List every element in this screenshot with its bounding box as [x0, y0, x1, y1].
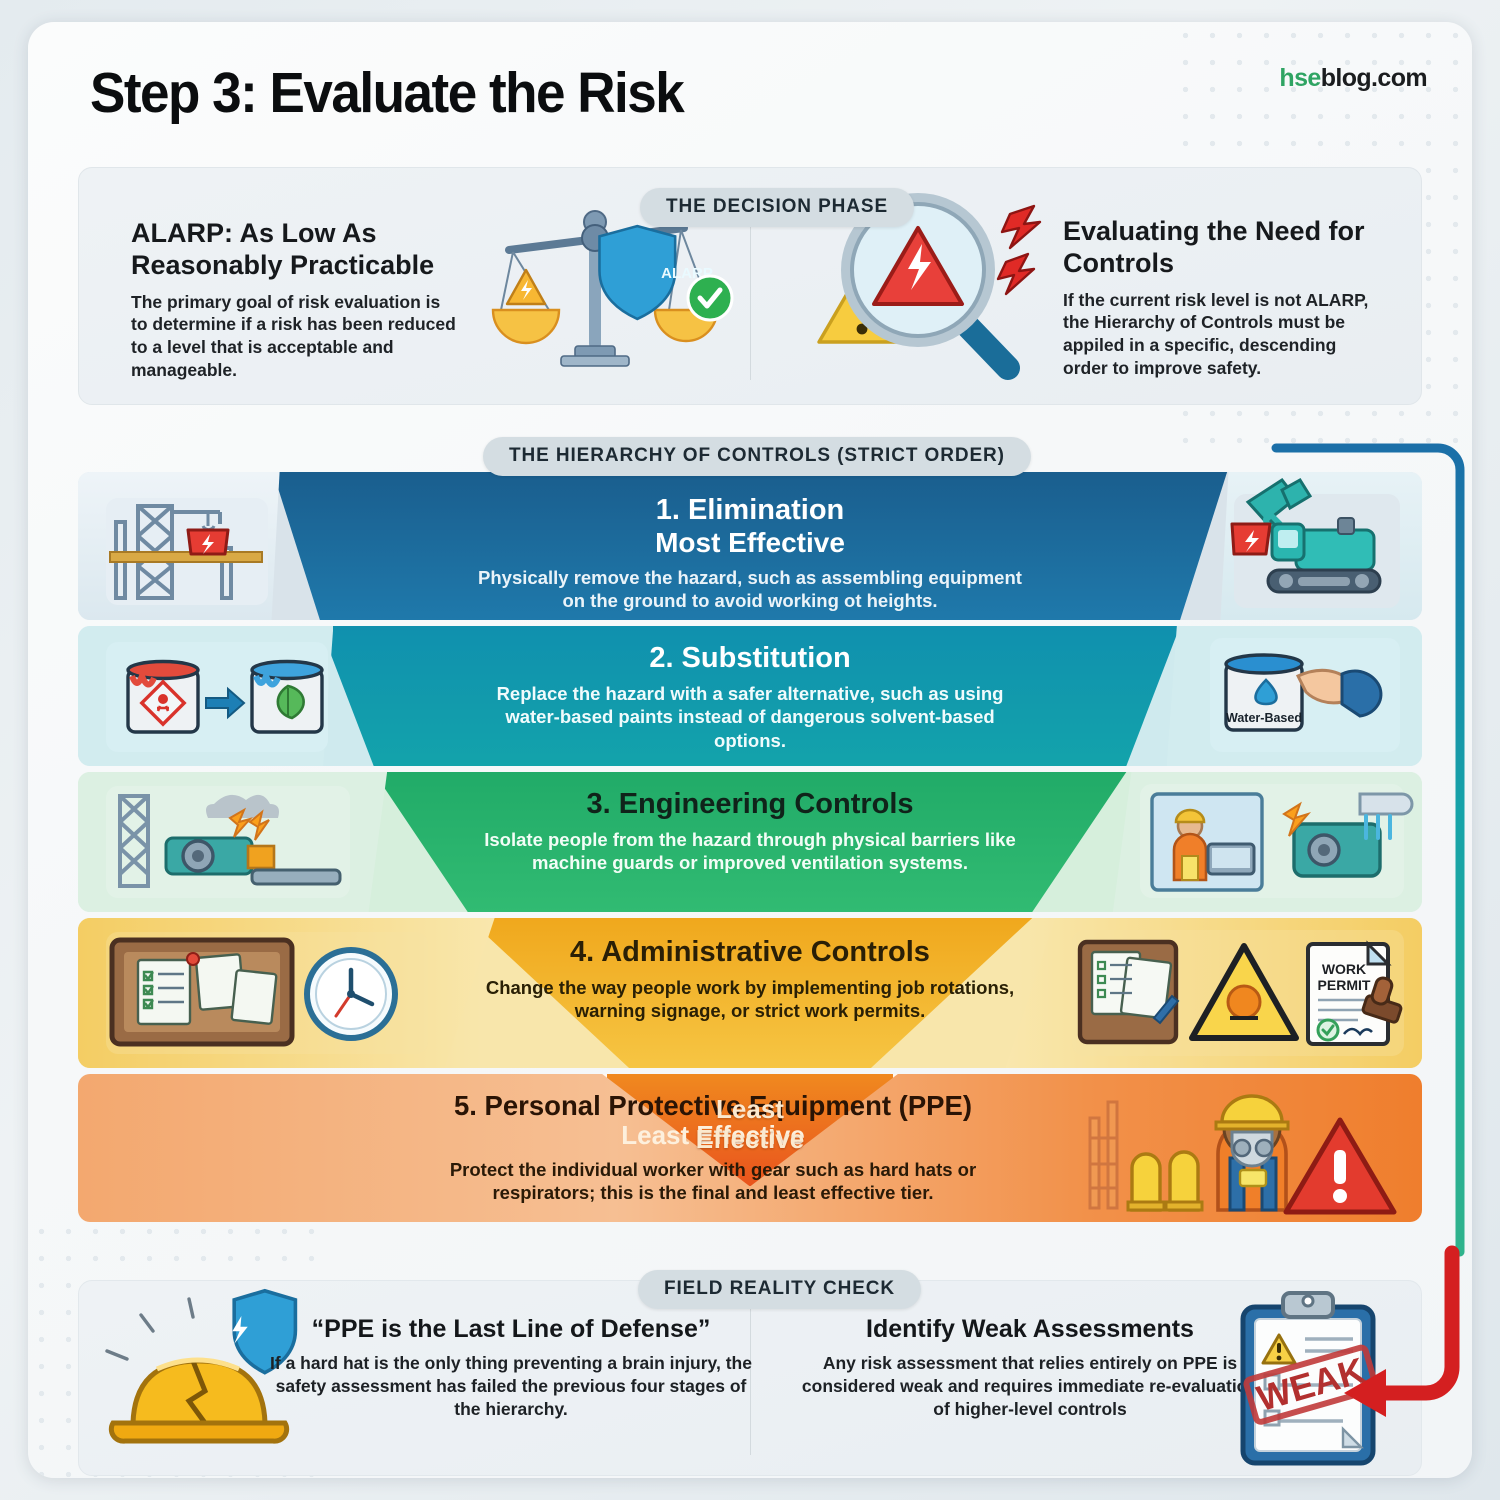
- funnel-tip-line-1: Least: [696, 1094, 804, 1124]
- tier-4-heading: 4. Administrative Controls: [470, 936, 1030, 969]
- funnel-tip-label: Least Effective: [696, 1094, 804, 1154]
- logo-hse-text: hse: [1279, 64, 1320, 92]
- tier-3-engineering-controls[interactable]: 3. Engineering Controls Isolate people f…: [78, 772, 1422, 912]
- tier-3-body: Isolate people from the hazard through p…: [470, 828, 1030, 875]
- ppe-last-line-title: “PPE is the Last Line of Defense”: [261, 1315, 761, 1344]
- weak-assessment-title: Identify Weak Assessments: [795, 1315, 1265, 1344]
- ppe-last-line-body: If a hard hat is the only thing preventi…: [261, 1352, 761, 1420]
- tier-1-text: 1. Elimination Most Effective Physically…: [470, 494, 1030, 613]
- alarp-body: The primary goal of risk evaluation is t…: [131, 291, 461, 382]
- infographic-root: Step 3: Evaluate the Risk hseblog.com TH…: [0, 0, 1500, 1500]
- tier-2-text: 2. Substitution Replace the hazard with …: [470, 642, 1030, 752]
- tier-4-body: Change the way people work by implementi…: [470, 976, 1030, 1023]
- feedback-arrow-icon: [1328, 1247, 1472, 1437]
- crane-hazard-icon: [102, 484, 272, 609]
- tier-1-heading: 1. Elimination: [470, 494, 1030, 527]
- hierarchy-of-controls: 1. Elimination Most Effective Physically…: [28, 454, 1472, 1254]
- tier-2-substitution[interactable]: Water-Based 2. Substitution Replace the …: [78, 626, 1422, 766]
- tier-1-elimination[interactable]: 1. Elimination Most Effective Physically…: [78, 472, 1422, 620]
- field-reality-chip: FIELD REALITY CHECK: [638, 1270, 921, 1309]
- controls-need-body: If the current risk level is not ALARP, …: [1063, 289, 1383, 380]
- tier-5-ppe[interactable]: 5. Personal Protective Equipment (PPE) L…: [78, 1074, 1422, 1222]
- tier-5-body: Protect the individual worker with gear …: [433, 1158, 993, 1205]
- alarp-text: ALARP: As Low As Reasonably Practicable …: [131, 218, 461, 382]
- tier-3-heading: 3. Engineering Controls: [470, 788, 1030, 821]
- weak-assessment-body: Any risk assessment that relies entirely…: [795, 1352, 1265, 1420]
- ppe-last-line-block: “PPE is the Last Line of Defense” If a h…: [261, 1315, 761, 1420]
- controls-need-title: Evaluating the Need for Controls: [1063, 216, 1383, 280]
- funnel-tip-line-2: Effective: [696, 1124, 804, 1154]
- page-title: Step 3: Evaluate the Risk: [90, 60, 683, 126]
- decision-phase-chip: THE DECISION PHASE: [640, 188, 914, 227]
- tier-1-body: Physically remove the hazard, such as as…: [470, 566, 1030, 613]
- tier-4-text: 4. Administrative Controls Change the wa…: [470, 936, 1030, 1023]
- controls-need-text: Evaluating the Need for Controls If the …: [1063, 216, 1383, 380]
- tier-3-text: 3. Engineering Controls Isolate people f…: [470, 788, 1030, 875]
- site-logo: hseblog.com: [1279, 64, 1427, 93]
- tier-2-heading: 2. Substitution: [470, 642, 1030, 675]
- alarp-title: ALARP: As Low As Reasonably Practicable: [131, 218, 461, 282]
- infographic-card: Step 3: Evaluate the Risk hseblog.com TH…: [28, 22, 1472, 1478]
- tier-1-subheading: Most Effective: [470, 527, 1030, 559]
- weak-assessment-block: Identify Weak Assessments Any risk asses…: [795, 1315, 1265, 1420]
- hierarchy-chip: THE HIERARCHY OF CONTROLS (STRICT ORDER): [483, 437, 1031, 476]
- machine-hazard-icon: [102, 782, 352, 902]
- tier-4-administrative-controls[interactable]: WORK PERMIT 4. Administrative Controls: [78, 918, 1422, 1068]
- tier-2-body: Replace the hazard with a safer alternat…: [470, 682, 1030, 752]
- noticeboard-clock-icon: [102, 928, 432, 1058]
- paint-can-substitution-icon: [102, 636, 332, 756]
- logo-blog-text: blog.com: [1321, 64, 1427, 92]
- field-reality-panel: “PPE is the Last Line of Defense” If a h…: [78, 1280, 1422, 1476]
